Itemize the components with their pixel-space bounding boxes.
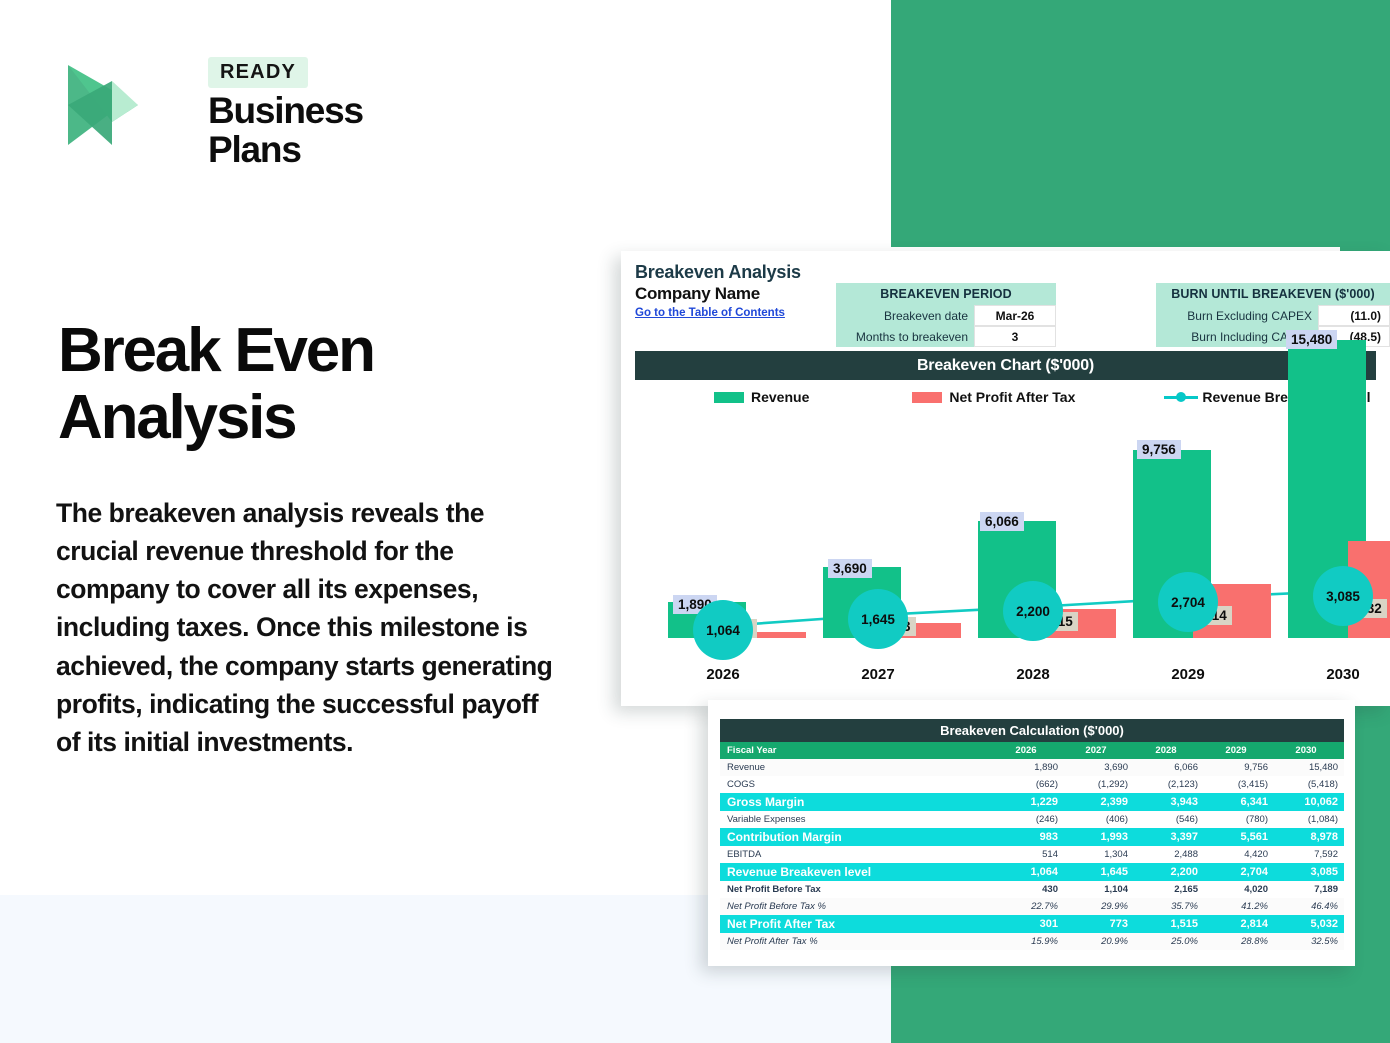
breakeven-label-2030: 3,085 (1326, 589, 1360, 604)
play-triangle-logo-icon (60, 57, 145, 152)
background-panel-top-right (891, 0, 1390, 247)
breakeven-date-label: Breakeven date (836, 305, 974, 326)
cell-2030[interactable]: 7,189 (1274, 881, 1344, 898)
column-header-2028: 2028 (1134, 742, 1204, 759)
cell-2028[interactable]: 2,488 (1134, 846, 1204, 863)
table-row: Revenue1,8903,6906,0669,75615,480 (720, 759, 1344, 776)
cell-2029[interactable]: 4,420 (1204, 846, 1274, 863)
row-label: Revenue (720, 759, 994, 776)
cell-2028[interactable]: 3,943 (1134, 793, 1204, 811)
cell-2026[interactable]: 1,890 (994, 759, 1064, 776)
bar-label-revenue-2027: 3,690 (828, 559, 872, 578)
row-label: Net Profit Before Tax % (720, 898, 994, 915)
cell-2029[interactable]: 9,756 (1204, 759, 1274, 776)
cell-2026[interactable]: 1,064 (994, 863, 1064, 881)
cell-2028[interactable]: 2,200 (1134, 863, 1204, 881)
bar-label-revenue-2028: 6,066 (980, 512, 1024, 531)
bar-label-revenue-2029: 9,756 (1137, 440, 1181, 459)
burn-excluding-capex-row: Burn Excluding CAPEX (11.0) (1156, 305, 1390, 326)
page-body-text: The breakeven analysis reveals the cruci… (56, 494, 556, 761)
cell-2030[interactable]: 7,592 (1274, 846, 1344, 863)
cell-2026[interactable]: (246) (994, 811, 1064, 828)
table-of-contents-link[interactable]: Go to the Table of Contents (635, 307, 801, 319)
row-label: EBITDA (720, 846, 994, 863)
page-title: Break Even Analysis (58, 318, 578, 452)
cell-2028[interactable]: (2,123) (1134, 776, 1204, 793)
company-name: Company Name (635, 284, 801, 304)
cell-2028[interactable]: 3,397 (1134, 828, 1204, 846)
breakeven-date-value[interactable]: Mar-26 (974, 305, 1056, 326)
table-row: COGS(662)(1,292)(2,123)(3,415)(5,418) (720, 776, 1344, 793)
legend-swatch-revenue-icon (714, 392, 744, 403)
cell-2029[interactable]: 5,561 (1204, 828, 1274, 846)
cell-2029[interactable]: 2,814 (1204, 915, 1274, 933)
table-row: Revenue Breakeven level1,0641,6452,2002,… (720, 863, 1344, 881)
cell-2029[interactable]: 41.2% (1204, 898, 1274, 915)
row-label: Revenue Breakeven level (720, 863, 994, 881)
chart-title-banner: Breakeven Chart ($'000) (635, 351, 1376, 380)
row-label: Net Profit After Tax % (720, 933, 994, 950)
cell-2030[interactable]: 46.4% (1274, 898, 1344, 915)
column-header-2030: 2030 (1274, 742, 1344, 759)
cell-2030[interactable]: 8,978 (1274, 828, 1344, 846)
burn-title: BURN UNTIL BREAKEVEN ($'000) (1156, 283, 1390, 305)
cell-2029[interactable]: (3,415) (1204, 776, 1274, 793)
cell-2026[interactable]: 22.7% (994, 898, 1064, 915)
chart-legend: Revenue Net Profit After Tax Revenue Bre… (635, 384, 1376, 410)
cell-2027[interactable]: 1,304 (1064, 846, 1134, 863)
breakeven-marker-2027[interactable]: 1,645 (848, 589, 908, 649)
legend-label-npat: Net Profit After Tax (949, 389, 1075, 405)
burn-excluding-capex-value[interactable]: (11.0) (1318, 305, 1390, 326)
legend-item-npat[interactable]: Net Profit After Tax (912, 389, 1075, 405)
breakeven-date-row: Breakeven date Mar-26 (836, 305, 1056, 326)
cell-2030[interactable]: 15,480 (1274, 759, 1344, 776)
column-header-fiscal-year: Fiscal Year (720, 742, 994, 759)
cell-2026[interactable]: (662) (994, 776, 1064, 793)
table-row: Net Profit After Tax3017731,5152,8145,03… (720, 915, 1344, 933)
breakeven-marker-2029[interactable]: 2,704 (1158, 572, 1218, 632)
cell-2026[interactable]: 301 (994, 915, 1064, 933)
row-label: Variable Expenses (720, 811, 994, 828)
bar-label-revenue-2030: 15,480 (1286, 330, 1337, 349)
chart-plot-area: 1,890 301 1,064 2026 3,690 773 1,645 202… (635, 414, 1376, 691)
table-row: Gross Margin1,2292,3993,9436,34110,062 (720, 793, 1344, 811)
cell-2030[interactable]: (5,418) (1274, 776, 1344, 793)
cell-2028[interactable]: 6,066 (1134, 759, 1204, 776)
table-row: Net Profit Before Tax %22.7%29.9%35.7%41… (720, 898, 1344, 915)
row-label: COGS (720, 776, 994, 793)
burn-excluding-capex-label: Burn Excluding CAPEX (1156, 305, 1318, 326)
cell-2029[interactable]: 2,704 (1204, 863, 1274, 881)
x-axis-tick-2026: 2026 (668, 666, 778, 683)
breakeven-calculation-card: Breakeven Calculation ($'000) Fiscal Yea… (708, 700, 1355, 966)
legend-line-marker-icon (1164, 391, 1198, 403)
cell-2027[interactable]: (1,292) (1064, 776, 1134, 793)
cell-2029[interactable]: (780) (1204, 811, 1274, 828)
cell-2027[interactable]: (406) (1064, 811, 1134, 828)
breakeven-marker-2026[interactable]: 1,064 (693, 600, 753, 660)
breakeven-label-2029: 2,704 (1171, 595, 1205, 610)
cell-2026[interactable]: 983 (994, 828, 1064, 846)
cell-2030[interactable]: 32.5% (1274, 933, 1344, 950)
row-label: Net Profit After Tax (720, 915, 994, 933)
months-to-breakeven-value[interactable]: 3 (974, 326, 1056, 347)
breakeven-label-2026: 1,064 (706, 623, 740, 638)
legend-label-revenue: Revenue (751, 389, 809, 405)
cell-2028[interactable]: 2,165 (1134, 881, 1204, 898)
breakeven-marker-2028[interactable]: 2,200 (1003, 581, 1063, 641)
cell-2027[interactable]: 3,690 (1064, 759, 1134, 776)
cell-2030[interactable]: 10,062 (1274, 793, 1344, 811)
legend-item-revenue[interactable]: Revenue (714, 389, 809, 405)
row-label: Gross Margin (720, 793, 994, 811)
months-to-breakeven-row: Months to breakeven 3 (836, 326, 1056, 347)
brand-badge: READY (208, 57, 308, 88)
row-label: Contribution Margin (720, 828, 994, 846)
brand-logo: READY Business Plans (60, 57, 440, 152)
breakeven-period-box: BREAKEVEN PERIOD Breakeven date Mar-26 M… (836, 283, 1056, 347)
months-to-breakeven-label: Months to breakeven (836, 326, 974, 347)
x-axis-tick-2027: 2027 (823, 666, 933, 683)
breakeven-period-title: BREAKEVEN PERIOD (836, 283, 1056, 305)
table-title-banner: Breakeven Calculation ($'000) (720, 719, 1344, 742)
cell-2028[interactable]: 25.0% (1134, 933, 1204, 950)
breakeven-calculation-table: Fiscal Year 2026 2027 2028 2029 2030 Rev… (720, 742, 1344, 950)
table-row: EBITDA5141,3042,4884,4207,592 (720, 846, 1344, 863)
table-header-row: Fiscal Year 2026 2027 2028 2029 2030 (720, 742, 1344, 759)
sheet-header: Breakeven Analysis Company Name Go to th… (635, 262, 801, 319)
brand-name: Business Plans (208, 92, 440, 170)
breakeven-label-2027: 1,645 (861, 612, 895, 627)
legend-swatch-npat-icon (912, 392, 942, 403)
cell-2029[interactable]: 4,020 (1204, 881, 1274, 898)
table-row: Net Profit After Tax %15.9%20.9%25.0%28.… (720, 933, 1344, 950)
x-axis-tick-2030: 2030 (1288, 666, 1390, 683)
cell-2030[interactable]: (1,084) (1274, 811, 1344, 828)
cell-2026[interactable]: 514 (994, 846, 1064, 863)
cell-2029[interactable]: 6,341 (1204, 793, 1274, 811)
breakeven-chart-card: Breakeven Analysis Company Name Go to th… (621, 251, 1390, 706)
cell-2027[interactable]: 773 (1064, 915, 1134, 933)
cell-2027[interactable]: 1,104 (1064, 881, 1134, 898)
cell-2026[interactable]: 1,229 (994, 793, 1064, 811)
column-header-2027: 2027 (1064, 742, 1134, 759)
cell-2027[interactable]: 29.9% (1064, 898, 1134, 915)
row-label: Net Profit Before Tax (720, 881, 994, 898)
sheet-title: Breakeven Analysis (635, 262, 801, 283)
breakeven-marker-2030[interactable]: 3,085 (1313, 566, 1373, 626)
burn-until-breakeven-box: BURN UNTIL BREAKEVEN ($'000) Burn Exclud… (1156, 283, 1390, 347)
cell-2028[interactable]: (546) (1134, 811, 1204, 828)
column-header-2029: 2029 (1204, 742, 1274, 759)
cell-2027[interactable]: 20.9% (1064, 933, 1134, 950)
cell-2028[interactable]: 35.7% (1134, 898, 1204, 915)
table-row: Net Profit Before Tax4301,1042,1654,0207… (720, 881, 1344, 898)
table-row: Variable Expenses(246)(406)(546)(780)(1,… (720, 811, 1344, 828)
cell-2026[interactable]: 430 (994, 881, 1064, 898)
x-axis-tick-2028: 2028 (978, 666, 1088, 683)
cell-2028[interactable]: 1,515 (1134, 915, 1204, 933)
x-axis-tick-2029: 2029 (1133, 666, 1243, 683)
cell-2026[interactable]: 15.9% (994, 933, 1064, 950)
cell-2030[interactable]: 5,032 (1274, 915, 1344, 933)
cell-2027[interactable]: 1,645 (1064, 863, 1134, 881)
table-row: Contribution Margin9831,9933,3975,5618,9… (720, 828, 1344, 846)
cell-2027[interactable]: 2,399 (1064, 793, 1134, 811)
cell-2030[interactable]: 3,085 (1274, 863, 1344, 881)
cell-2029[interactable]: 28.8% (1204, 933, 1274, 950)
cell-2027[interactable]: 1,993 (1064, 828, 1134, 846)
background-panel-bottom-right (891, 955, 1390, 1043)
breakeven-label-2028: 2,200 (1016, 604, 1050, 619)
column-header-2026: 2026 (994, 742, 1064, 759)
